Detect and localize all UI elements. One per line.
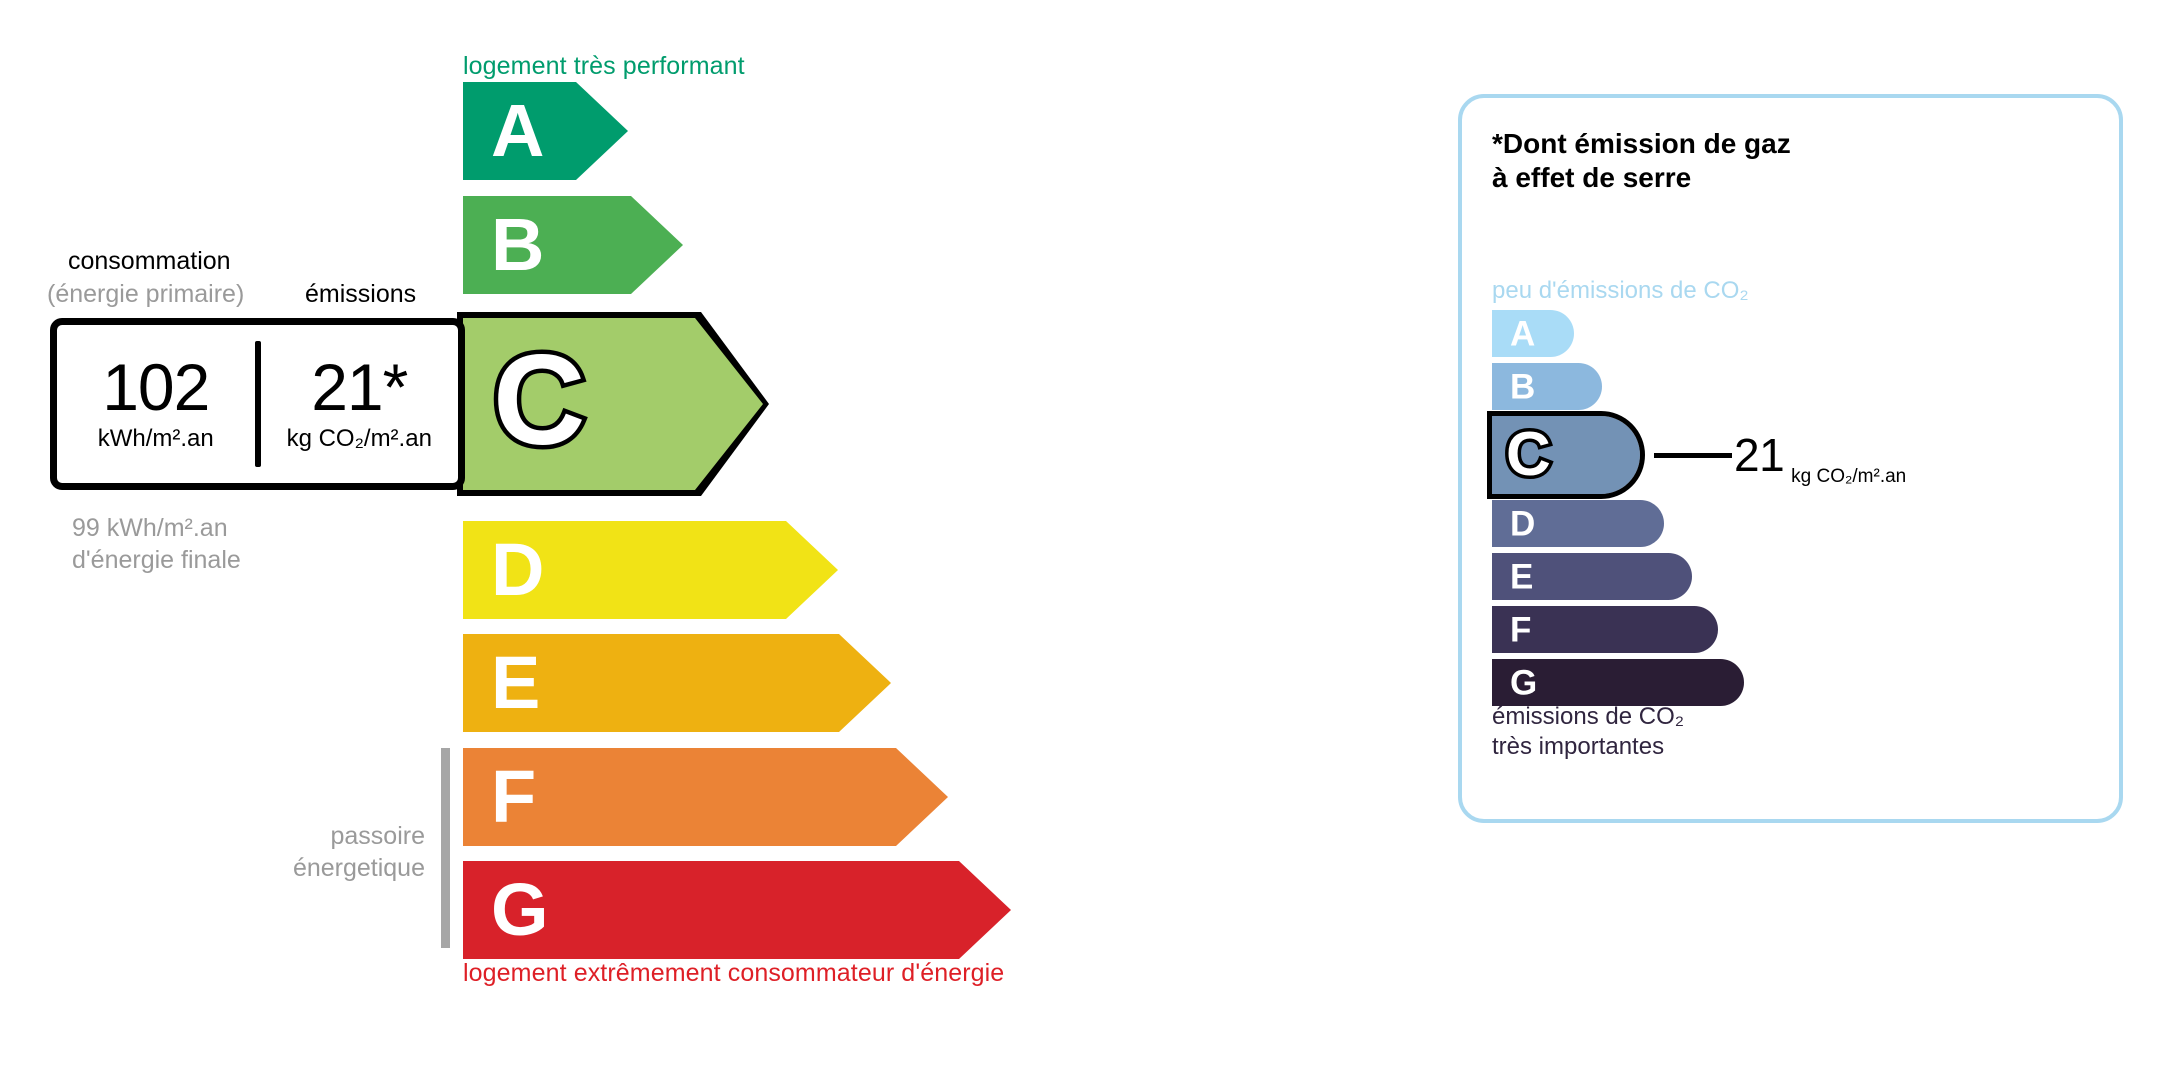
energy-bar-d: D — [463, 521, 838, 619]
energy-bar-a-shape — [463, 82, 628, 180]
energy-bar-d-letter: D — [491, 533, 544, 607]
consumption-value: 102 — [102, 355, 209, 420]
passoire-line-2: énergetique — [260, 852, 425, 884]
ges-title-line-1: *Dont émission de gaz — [1492, 127, 1791, 161]
scale-top-caption: logement très performant — [463, 52, 745, 81]
ges-value-callout: 21 kg CO₂/m².an — [1654, 416, 1906, 494]
energy-bar-b: B — [463, 196, 683, 294]
final-energy-line-1: 99 kWh/m².an — [72, 512, 241, 544]
ges-panel-title: *Dont émission de gaz à effet de serre — [1492, 127, 1791, 195]
ges-bar-c-letter: C — [1506, 424, 1551, 486]
energy-bar-b-letter: B — [491, 208, 544, 282]
emissions-unit: kg CO₂/m².an — [287, 425, 432, 453]
ges-title-line-2: à effet de serre — [1492, 161, 1791, 195]
energy-bar-f-letter: F — [491, 760, 536, 834]
energy-bar-g-letter: G — [491, 873, 549, 947]
scale-bottom-caption: logement extrêmement consommateur d'éner… — [463, 959, 1004, 988]
emissions-value-cell: 21* kg CO₂/m².an — [261, 325, 459, 483]
passoire-energetique-label: passoire énergetique — [260, 820, 425, 884]
energy-bar-e: E — [463, 634, 891, 732]
energy-bar-e-letter: E — [491, 646, 540, 720]
ges-bottom-line-1: émissions de CO₂ — [1492, 702, 1684, 732]
energy-bar-g: G — [463, 861, 1011, 959]
value-box: 102 kWh/m².an 21* kg CO₂/m².an — [50, 318, 465, 490]
energy-bar-f: F — [463, 748, 948, 846]
emissions-label: émissions — [305, 280, 416, 309]
ges-panel: *Dont émission de gaz à effet de serre p… — [1458, 94, 2123, 823]
emissions-value: 21* — [311, 355, 407, 420]
ges-bar-g-letter: G — [1510, 665, 1537, 700]
callout-unit: kg CO₂/m².an — [1791, 466, 1906, 488]
energy-bar-c-selected: C — [463, 318, 763, 490]
ges-top-caption: peu d'émissions de CO₂ — [1492, 277, 1749, 305]
ges-bottom-line-2: très importantes — [1492, 732, 1684, 762]
energy-bar-a-letter: A — [491, 94, 544, 168]
energy-bar-a: A — [463, 82, 628, 180]
callout-value: 21 — [1734, 432, 1784, 478]
final-energy-note: 99 kWh/m².an d'énergie finale — [72, 512, 241, 576]
final-energy-line-2: d'énergie finale — [72, 544, 241, 576]
ges-bar-a-letter: A — [1510, 316, 1535, 351]
consumption-value-cell: 102 kWh/m².an — [57, 325, 255, 483]
consumption-sublabel: (énergie primaire) — [47, 280, 244, 309]
ges-bar-d-letter: D — [1510, 506, 1535, 541]
passoire-line-1: passoire — [260, 820, 425, 852]
ges-bar-e-letter: E — [1510, 559, 1533, 594]
ges-bottom-caption: émissions de CO₂ très importantes — [1492, 702, 1684, 762]
consumption-label: consommation — [68, 247, 231, 276]
energy-performance-scale: logement très performant A B C D E — [0, 0, 1360, 1079]
consumption-unit: kWh/m².an — [98, 425, 214, 453]
callout-leader-line — [1654, 453, 1732, 458]
energy-bar-c-letter: C — [493, 337, 585, 465]
ges-bar-b-shape — [1492, 363, 1602, 410]
ges-bar-f-letter: F — [1510, 612, 1531, 647]
passoire-energetique-marker — [441, 748, 450, 948]
ges-bar-b-letter: B — [1510, 369, 1535, 404]
